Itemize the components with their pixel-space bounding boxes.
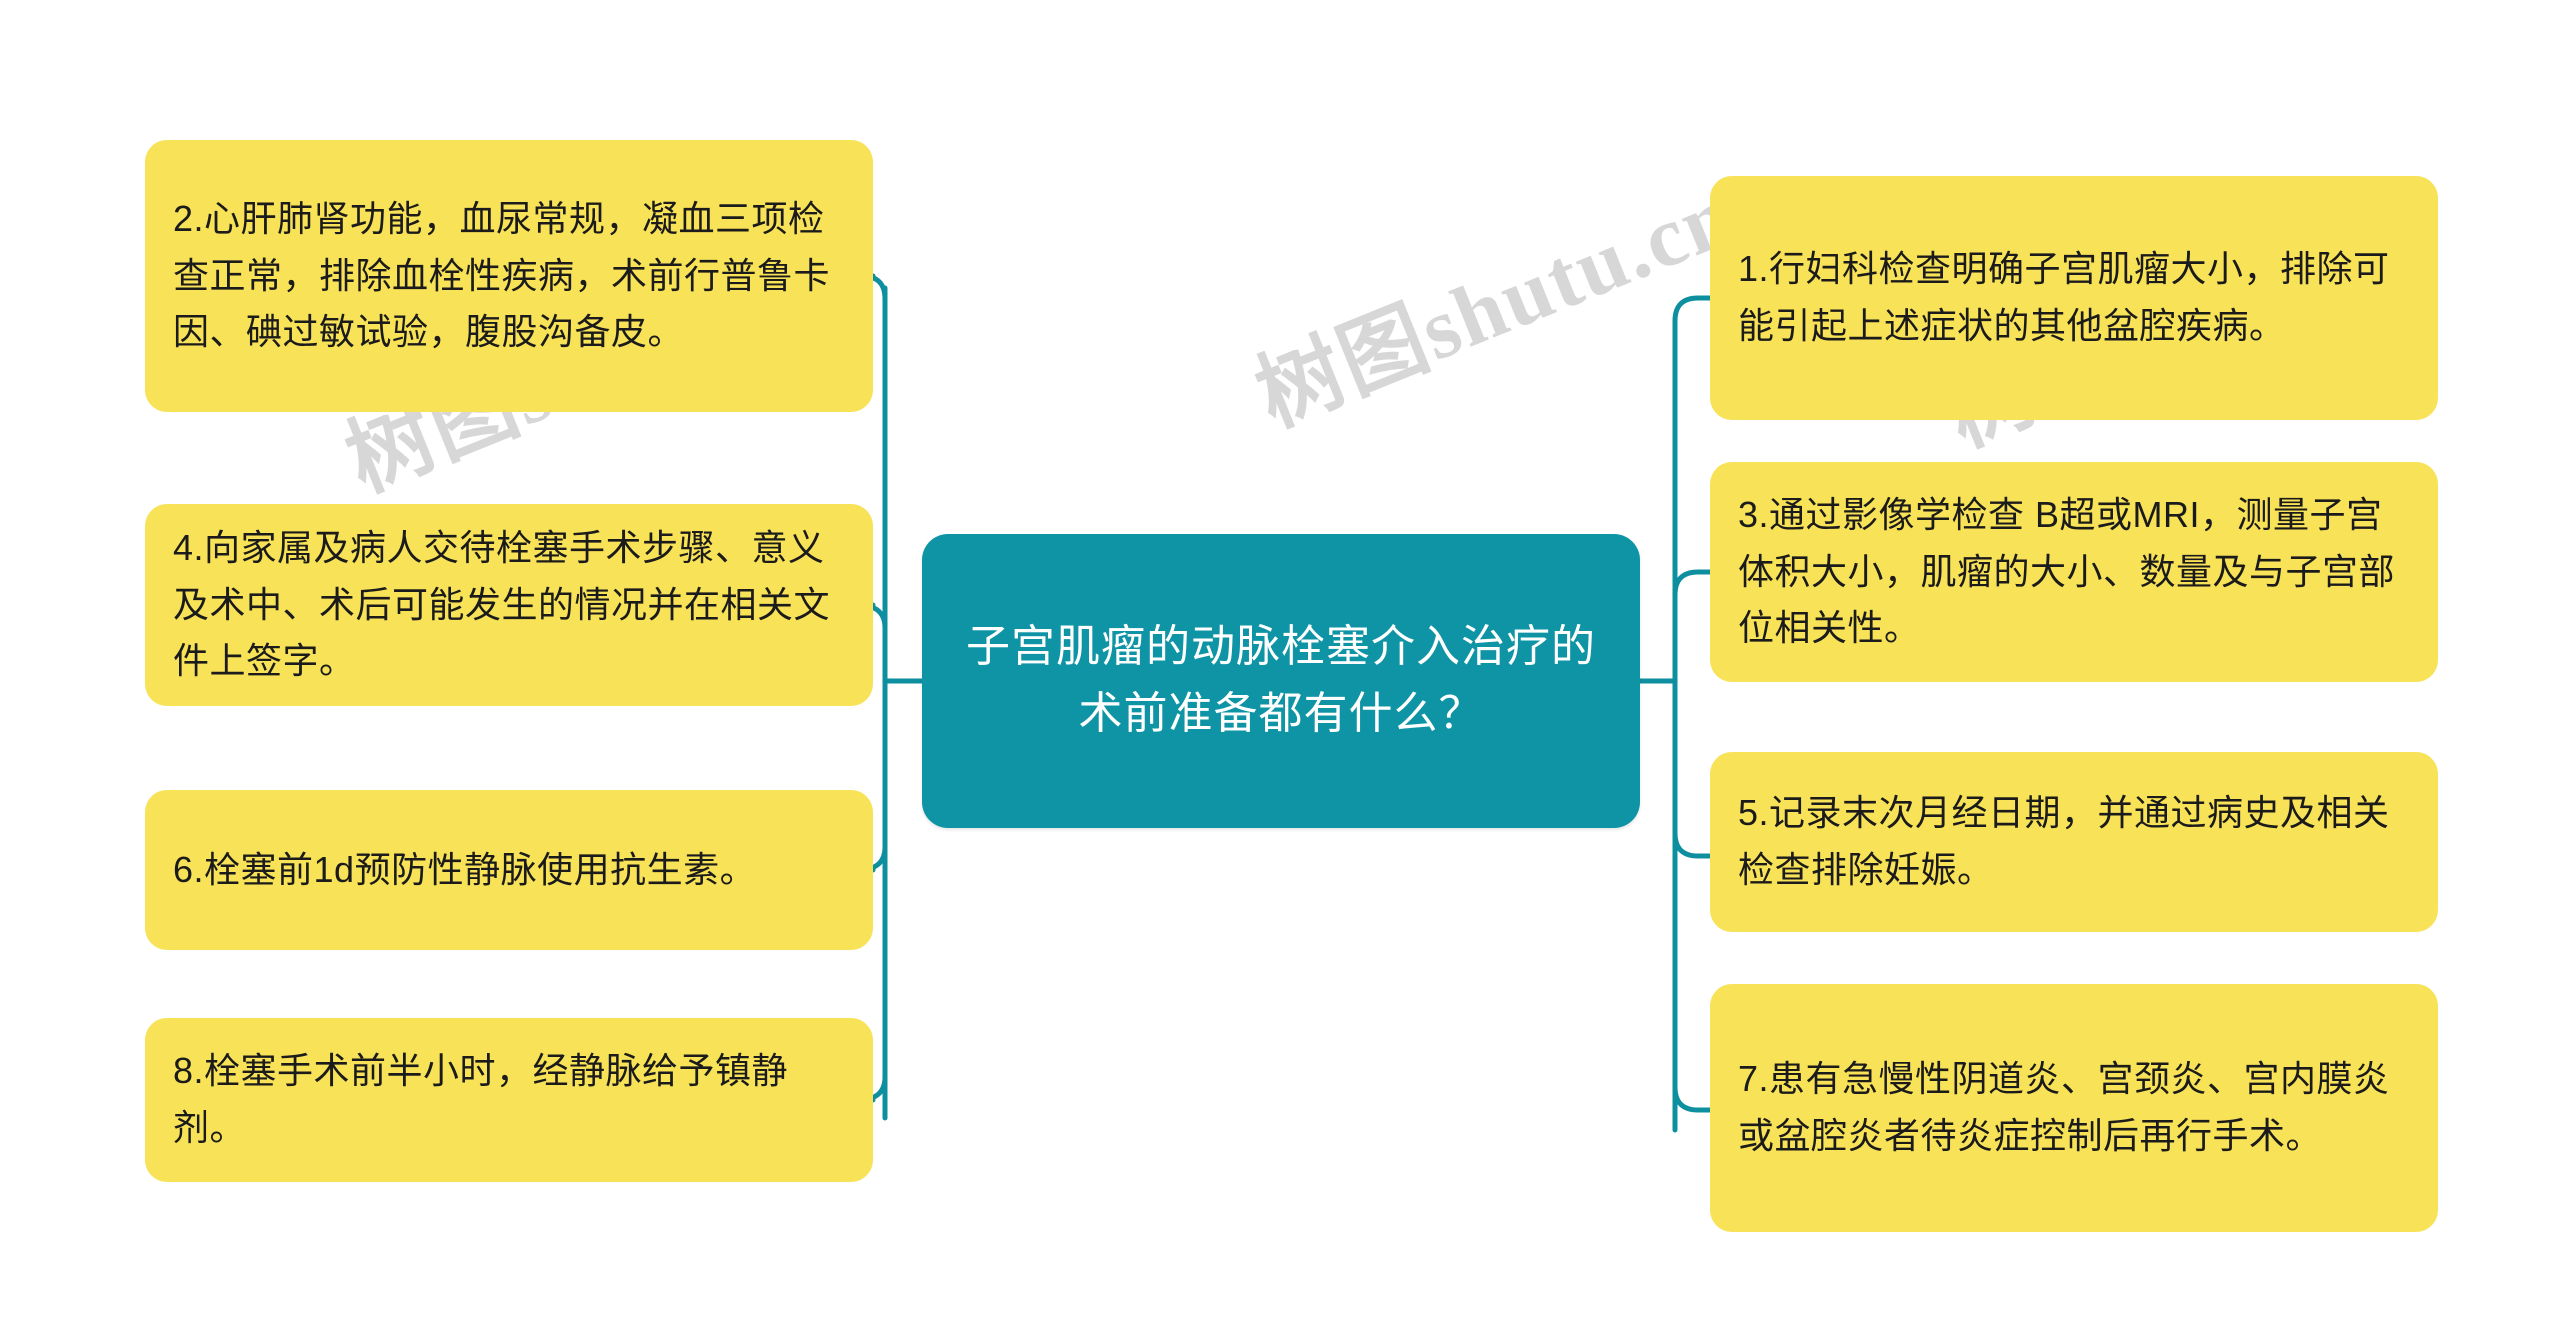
root-node[interactable]: 子宫肌瘤的动脉栓塞介入治疗的术前准备都有什么？ [922, 534, 1640, 828]
leaf-node-item-2[interactable]: 2.心肝肺肾功能，血尿常规，凝血三项检查正常，排除血栓性疾病，术前行普鲁卡因、碘… [145, 140, 873, 412]
leaf-node-item-5[interactable]: 5.记录末次月经日期，并通过病史及相关检查排除妊娠。 [1710, 752, 2438, 932]
leaf-node-item-6[interactable]: 6.栓塞前1d预防性静脉使用抗生素。 [145, 790, 873, 950]
leaf-label-item-2: 2.心肝肺肾功能，血尿常规，凝血三项检查正常，排除血栓性疾病，术前行普鲁卡因、碘… [173, 191, 847, 362]
leaf-label-item-6: 6.栓塞前1d预防性静脉使用抗生素。 [173, 842, 847, 899]
mindmap-canvas: 树图shutu.cn 树图shutu.cn 树图shutu.cn [0, 0, 2560, 1333]
leaf-node-item-4[interactable]: 4.向家属及病人交待栓塞手术步骤、意义及术中、术后可能发生的情况并在相关文件上签… [145, 504, 873, 706]
leaf-node-item-3[interactable]: 3.通过影像学检查 B超或MRI，测量子宫体积大小，肌瘤的大小、数量及与子宫部位… [1710, 462, 2438, 682]
leaf-node-item-8[interactable]: 8.栓塞手术前半小时，经静脉给予镇静剂。 [145, 1018, 873, 1182]
root-label: 子宫肌瘤的动脉栓塞介入治疗的术前准备都有什么？ [952, 614, 1610, 748]
leaf-node-item-7[interactable]: 7.患有急慢性阴道炎、宫颈炎、宫内膜炎或盆腔炎者待炎症控制后再行手术。 [1710, 984, 2438, 1232]
leaf-node-item-1[interactable]: 1.行妇科检查明确子宫肌瘤大小，排除可能引起上述症状的其他盆腔疾病。 [1710, 176, 2438, 420]
leaf-label-item-7: 7.患有急慢性阴道炎、宫颈炎、宫内膜炎或盆腔炎者待炎症控制后再行手术。 [1738, 1051, 2412, 1165]
leaf-label-item-8: 8.栓塞手术前半小时，经静脉给予镇静剂。 [173, 1043, 847, 1157]
leaf-label-item-4: 4.向家属及病人交待栓塞手术步骤、意义及术中、术后可能发生的情况并在相关文件上签… [173, 520, 847, 691]
leaf-label-item-1: 1.行妇科检查明确子宫肌瘤大小，排除可能引起上述症状的其他盆腔疾病。 [1738, 241, 2412, 355]
leaf-label-item-3: 3.通过影像学检查 B超或MRI，测量子宫体积大小，肌瘤的大小、数量及与子宫部位… [1738, 487, 2412, 658]
leaf-label-item-5: 5.记录末次月经日期，并通过病史及相关检查排除妊娠。 [1738, 785, 2412, 899]
